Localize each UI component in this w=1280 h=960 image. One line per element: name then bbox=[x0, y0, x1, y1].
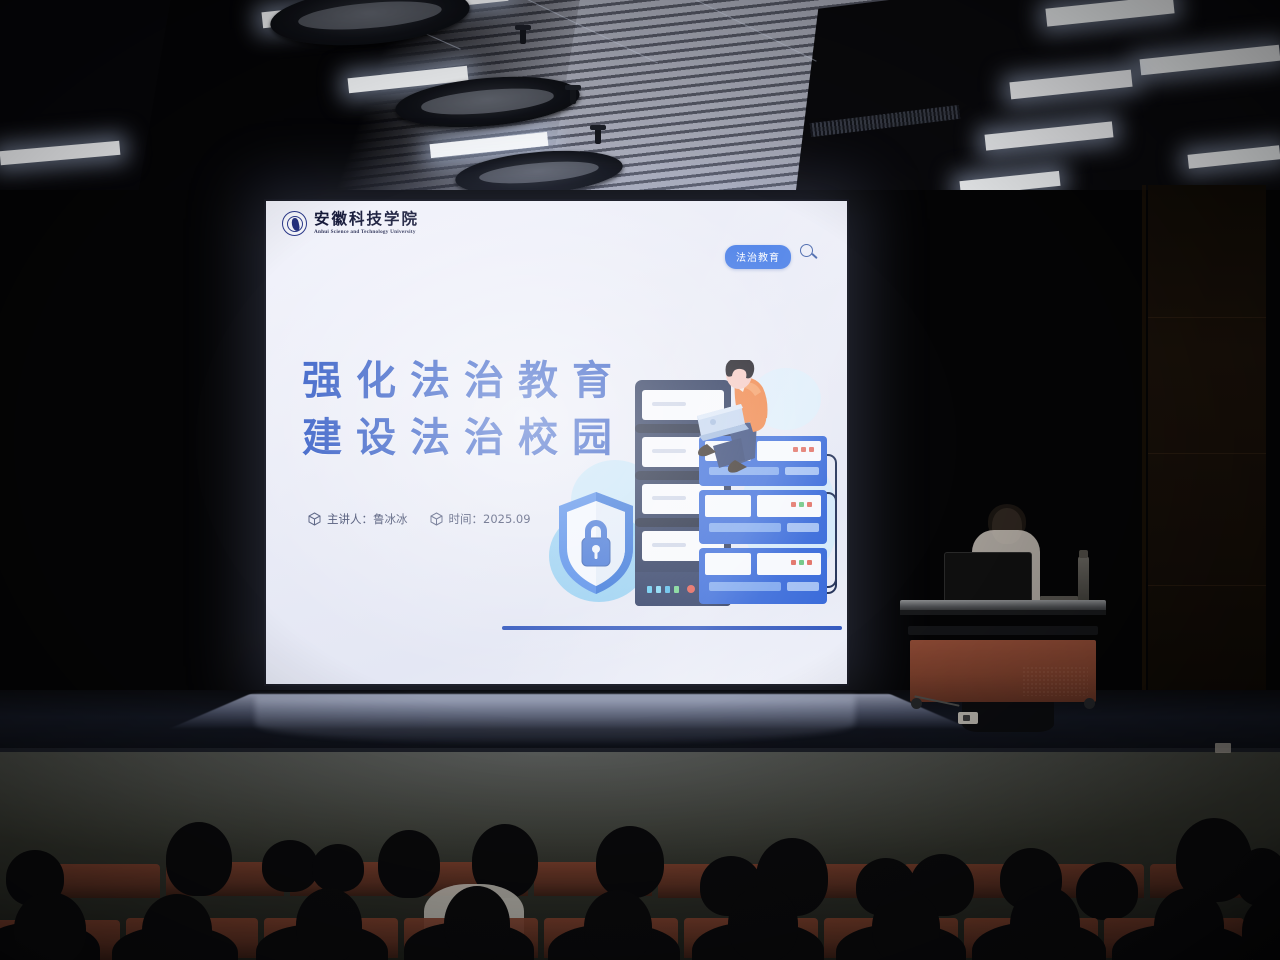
person-with-laptop-icon bbox=[683, 360, 793, 486]
wall-edge bbox=[1142, 185, 1146, 745]
audience-head bbox=[378, 830, 440, 898]
university-name-en: Anhui Science and Technology University bbox=[314, 230, 419, 235]
byline-date-text: 时间：2025.09 bbox=[449, 511, 531, 527]
audience-head bbox=[728, 886, 798, 960]
byline-speaker: 主讲人：鲁冰冰 bbox=[308, 511, 408, 527]
seat-row bbox=[50, 864, 160, 898]
desk-front-panel bbox=[910, 640, 1096, 702]
floor-power-box bbox=[958, 712, 978, 724]
university-logo: 安徽科技学院 Anhui Science and Technology Univ… bbox=[282, 211, 419, 236]
audience-head bbox=[1242, 896, 1280, 960]
stage-reflection-soft bbox=[255, 696, 855, 742]
audience-head bbox=[1154, 888, 1224, 960]
right-wall-panel bbox=[1148, 185, 1266, 745]
audience-head bbox=[872, 890, 940, 960]
audience-head bbox=[596, 826, 664, 898]
water-bottle bbox=[1078, 556, 1089, 604]
cyber-security-illustration bbox=[543, 336, 843, 636]
cube-icon bbox=[430, 512, 443, 526]
topic-badge[interactable]: 法治教育 bbox=[725, 245, 791, 269]
audience-head bbox=[14, 892, 86, 960]
server-stack-unit bbox=[699, 548, 827, 604]
audience-head bbox=[444, 886, 510, 960]
cube-icon bbox=[308, 512, 321, 526]
university-name-cn: 安徽科技学院 bbox=[314, 212, 419, 228]
bottle-cap bbox=[1079, 550, 1088, 558]
projection-screen: 安徽科技学院 Anhui Science and Technology Univ… bbox=[264, 199, 849, 686]
lecture-hall-scene: 安徽科技学院 Anhui Science and Technology Univ… bbox=[0, 0, 1280, 960]
desk-caster bbox=[911, 698, 922, 709]
ceiling bbox=[0, 0, 1280, 200]
search-icon[interactable] bbox=[800, 244, 817, 261]
byline-date: 时间：2025.09 bbox=[430, 511, 531, 527]
audience-head bbox=[142, 894, 212, 960]
ceiling-light-icon bbox=[0, 141, 120, 165]
presenter-at-desk bbox=[900, 500, 1112, 745]
desk-caster bbox=[1084, 698, 1095, 709]
audience-head bbox=[262, 840, 318, 892]
audience-head bbox=[1010, 886, 1080, 960]
stage-floor-marker bbox=[1215, 743, 1231, 753]
audience-head bbox=[1076, 862, 1138, 920]
sprinkler-icon bbox=[570, 88, 576, 104]
server-stack-unit bbox=[699, 490, 827, 544]
presentation-slide: 安徽科技学院 Anhui Science and Technology Univ… bbox=[266, 201, 847, 684]
ceiling-dark-section bbox=[786, 0, 1280, 200]
laptop-computer bbox=[944, 552, 1032, 604]
shield-lock-icon bbox=[555, 490, 637, 596]
sprinkler-icon bbox=[595, 128, 601, 144]
slide-ground-line bbox=[502, 626, 842, 630]
university-crest-icon bbox=[282, 211, 307, 236]
audience-head bbox=[312, 844, 364, 892]
audience-head bbox=[296, 888, 362, 960]
audience-head bbox=[166, 822, 232, 896]
desk-edge bbox=[900, 610, 1106, 615]
audience-head bbox=[584, 890, 652, 960]
audience-silhouettes bbox=[0, 826, 1280, 960]
slide-byline: 主讲人：鲁冰冰 时间：2025.09 bbox=[308, 511, 531, 527]
sprinkler-icon bbox=[520, 28, 526, 44]
byline-speaker-text: 主讲人：鲁冰冰 bbox=[327, 511, 408, 527]
desk-rail bbox=[908, 626, 1098, 635]
